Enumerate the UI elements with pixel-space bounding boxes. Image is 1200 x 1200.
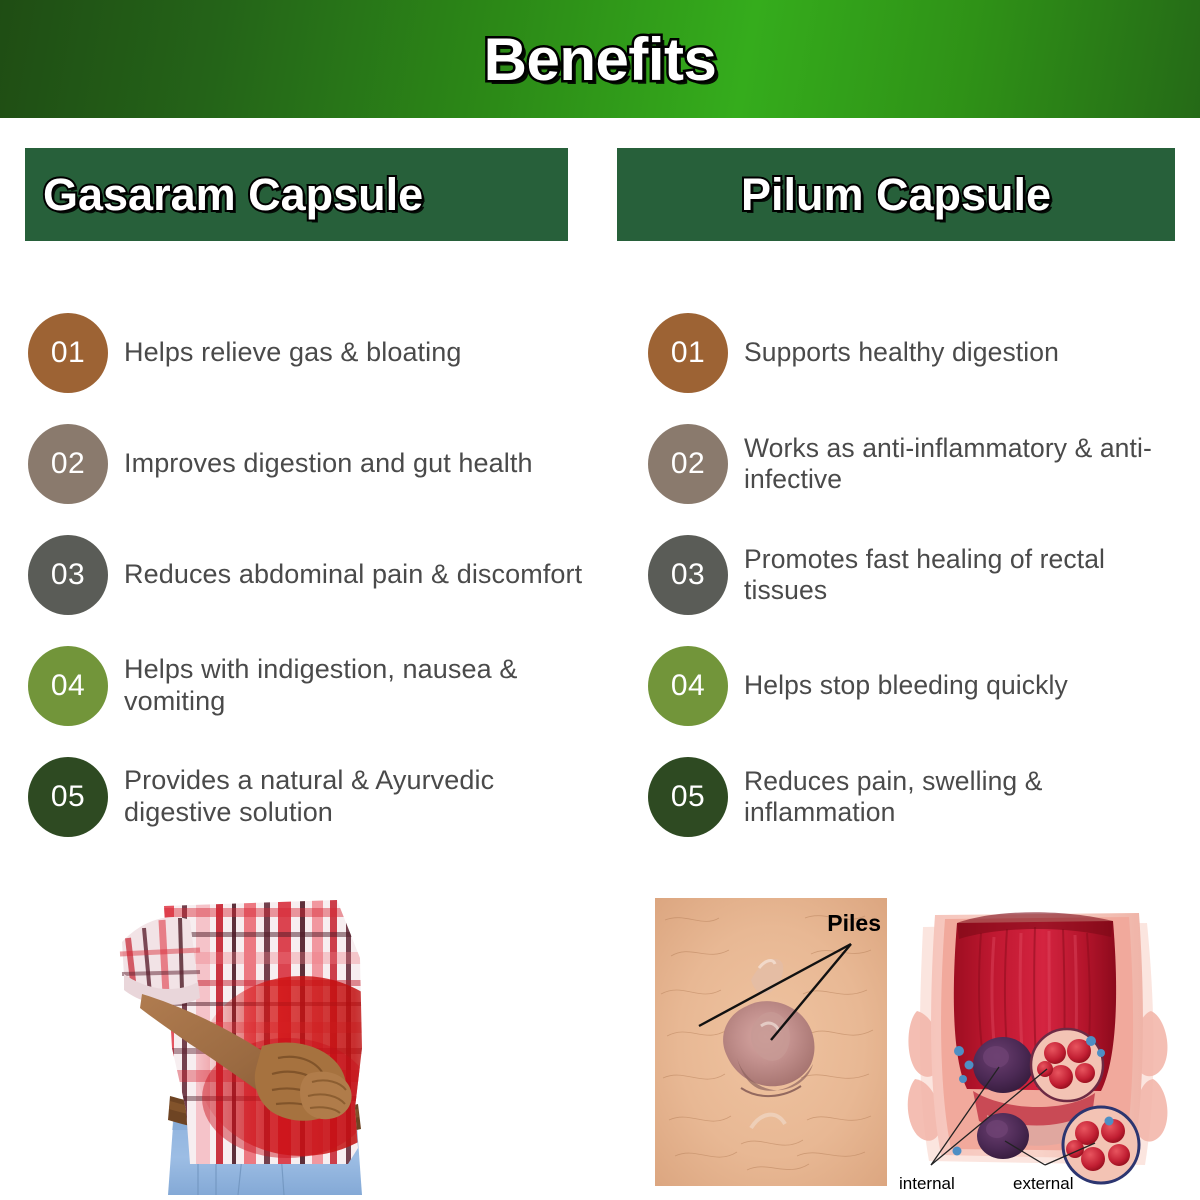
list-item: 04 Helps with indigestion, nausea & vomi…	[28, 646, 586, 726]
page-header: Benefits	[0, 0, 1200, 118]
list-item-label: Helps relieve gas & bloating	[124, 337, 462, 369]
list-item-label: Provides a natural & Ayurvedic digestive…	[124, 765, 586, 829]
banner-gasaram: Gasaram Capsule	[25, 148, 568, 241]
list-item: 01 Helps relieve gas & bloating	[28, 313, 586, 393]
badge-number: 02	[648, 424, 728, 504]
list-item-label: Reduces abdominal pain & discomfort	[124, 559, 582, 591]
list-item-label: Improves digestion and gut health	[124, 448, 533, 480]
badge-number: 05	[648, 757, 728, 837]
badge-number: 04	[648, 646, 728, 726]
benefits-list-pilum: 01 Supports healthy digestion 02 Works a…	[600, 313, 1200, 868]
list-item-label: Reduces pain, swelling & inflammation	[744, 766, 1190, 829]
list-item: 05 Provides a natural & Ayurvedic digest…	[28, 757, 586, 837]
list-item: 03 Reduces abdominal pain & discomfort	[28, 535, 586, 615]
badge-number: 01	[648, 313, 728, 393]
list-item-label: Works as anti-inflammatory & anti-infect…	[744, 433, 1190, 496]
badge-number: 03	[648, 535, 728, 615]
benefits-list-gasaram: 01 Helps relieve gas & bloating 02 Impro…	[0, 313, 600, 868]
list-item: 01 Supports healthy digestion	[648, 313, 1190, 393]
list-item: 05 Reduces pain, swelling & inflammation	[648, 757, 1190, 837]
external-hemorrhoid-label: external	[1013, 1174, 1073, 1194]
list-item: 02 Works as anti-inflammatory & anti-inf…	[648, 424, 1190, 504]
badge-number: 03	[28, 535, 108, 615]
badge-number: 04	[28, 646, 108, 726]
list-item-label: Promotes fast healing of rectal tissues	[744, 544, 1190, 607]
list-item: 04 Helps stop bleeding quickly	[648, 646, 1190, 726]
banner-pilum: Pilum Capsule	[617, 148, 1175, 241]
man-holding-stomach-photo	[112, 898, 472, 1195]
hemorrhoid-anatomy-diagram: internal external	[895, 893, 1195, 1200]
badge-number: 02	[28, 424, 108, 504]
list-item-label: Supports healthy digestion	[744, 337, 1059, 368]
piles-label: Piles	[827, 910, 881, 937]
banner-gasaram-title: Gasaram Capsule	[43, 169, 423, 221]
badge-number: 01	[28, 313, 108, 393]
page-title: Benefits	[484, 25, 717, 94]
piles-clinical-photo: Piles	[655, 898, 887, 1186]
badge-number: 05	[28, 757, 108, 837]
list-item-label: Helps with indigestion, nausea & vomitin…	[124, 654, 586, 718]
internal-hemorrhoid-label: internal	[899, 1174, 955, 1194]
banner-pilum-title: Pilum Capsule	[741, 169, 1051, 221]
list-item: 02 Improves digestion and gut health	[28, 424, 586, 504]
list-item: 03 Promotes fast healing of rectal tissu…	[648, 535, 1190, 615]
list-item-label: Helps stop bleeding quickly	[744, 670, 1068, 701]
